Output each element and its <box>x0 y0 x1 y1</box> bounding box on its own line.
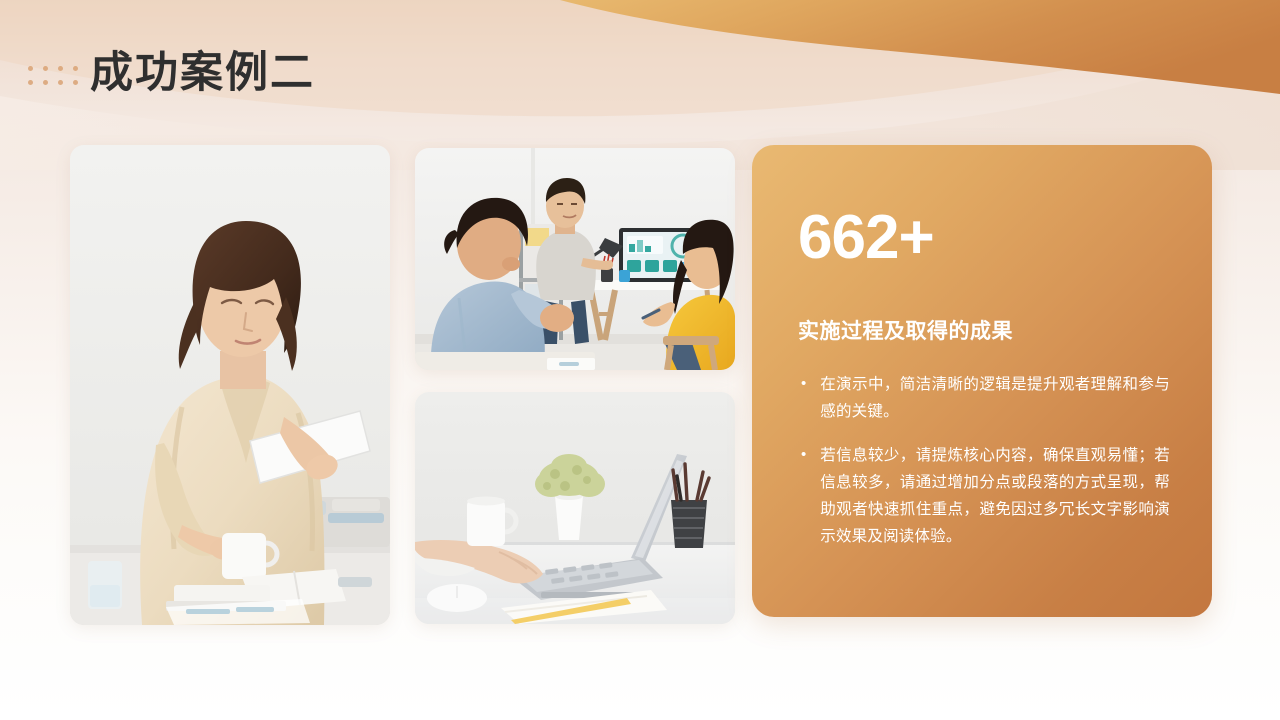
photo-woman-reading-document <box>70 145 390 625</box>
bullet-text: 在演示中，简洁清晰的逻辑是提升观者理解和参与感的关键。 <box>820 371 1170 425</box>
stat-card: 662+ 实施过程及取得的成果 • 在演示中，简洁清晰的逻辑是提升观者理解和参与… <box>752 145 1212 617</box>
list-item: • 若信息较少，请提炼核心内容，确保直观易懂；若信息较多，请通过增加分点或段落的… <box>798 442 1170 550</box>
photo-office-team-meeting <box>415 148 735 370</box>
bullet-text: 若信息较少，请提炼核心内容，确保直观易懂；若信息较多，请通过增加分点或段落的方式… <box>820 442 1170 550</box>
bullet-marker-icon: • <box>798 371 806 425</box>
dot-grid-icon <box>28 62 76 85</box>
list-item: • 在演示中，简洁清晰的逻辑是提升观者理解和参与感的关键。 <box>798 371 1170 425</box>
page-title: 成功案例二 <box>90 52 315 95</box>
photo-desk-laptop-typing <box>415 392 735 624</box>
stat-subtitle: 实施过程及取得的成果 <box>798 315 1170 345</box>
bullet-list: • 在演示中，简洁清晰的逻辑是提升观者理解和参与感的关键。 • 若信息较少，请提… <box>798 371 1170 550</box>
page-header: 成功案例二 <box>28 52 315 95</box>
bullet-marker-icon: • <box>798 442 806 550</box>
stat-number: 662+ <box>798 207 1170 269</box>
